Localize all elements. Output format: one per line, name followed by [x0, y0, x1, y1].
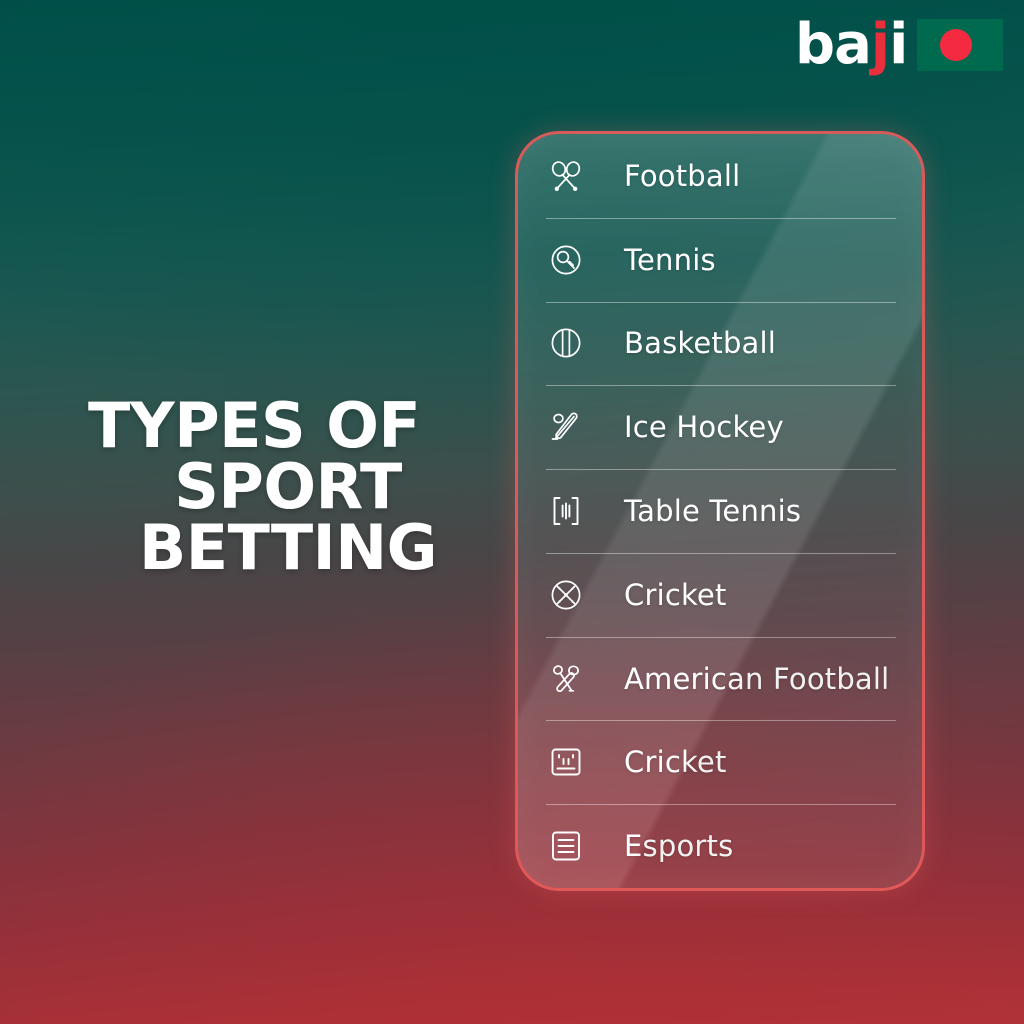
list-item-label: Esports [624, 829, 733, 863]
brand-name-suffix: i [889, 12, 907, 77]
list-item-label: Tennis [624, 243, 716, 277]
flag-red-circle [940, 29, 972, 61]
crossed-rackets-icon [546, 156, 586, 196]
list-item[interactable]: Esports [518, 804, 922, 888]
crossed-bat-ball-icon [546, 659, 586, 699]
brand-wordmark: baji [795, 17, 907, 73]
poster-canvas: baji TYPES OF SPORT BETTING [0, 0, 1024, 1024]
hockey-stick-puck-icon [546, 407, 586, 447]
list-item-label: Table Tennis [624, 494, 801, 528]
brand-name-accent: j [871, 12, 889, 77]
sports-glass-card: Football Tennis [515, 131, 925, 891]
basketball-circle-icon [546, 323, 586, 363]
list-item[interactable]: Tennis [518, 218, 922, 302]
list-item[interactable]: Ice Hockey [518, 385, 922, 469]
cricket-crossed-bats-icon [546, 575, 586, 615]
list-item[interactable]: Cricket [518, 720, 922, 804]
list-item-label: Ice Hockey [624, 410, 784, 444]
list-item-label: Basketball [624, 326, 776, 360]
brand-logo[interactable]: baji [795, 10, 1010, 80]
list-item[interactable]: Cricket [518, 553, 922, 637]
page-title-line-3: BETTING [88, 518, 488, 579]
tennis-ball-racket-icon [546, 240, 586, 280]
sports-list: Football Tennis [518, 134, 922, 888]
list-item[interactable]: Basketball [518, 302, 922, 386]
page-title-line-1: TYPES OF [88, 396, 488, 457]
cricket-square-face-icon [546, 742, 586, 782]
page-title: TYPES OF SPORT BETTING [88, 396, 488, 578]
list-item[interactable]: Table Tennis [518, 469, 922, 553]
list-item[interactable]: American Football [518, 637, 922, 721]
list-item-label: Football [624, 159, 740, 193]
table-tennis-bracket-icon [546, 491, 586, 531]
list-item-label: Cricket [624, 578, 727, 612]
bangladesh-flag-icon [917, 19, 1003, 71]
list-item-label: Cricket [624, 745, 727, 779]
brand-name-prefix: ba [795, 12, 871, 77]
page-title-line-2: SPORT [88, 457, 488, 518]
esports-list-icon [546, 826, 586, 866]
list-item[interactable]: Football [518, 134, 922, 218]
list-item-label: American Football [624, 662, 889, 696]
